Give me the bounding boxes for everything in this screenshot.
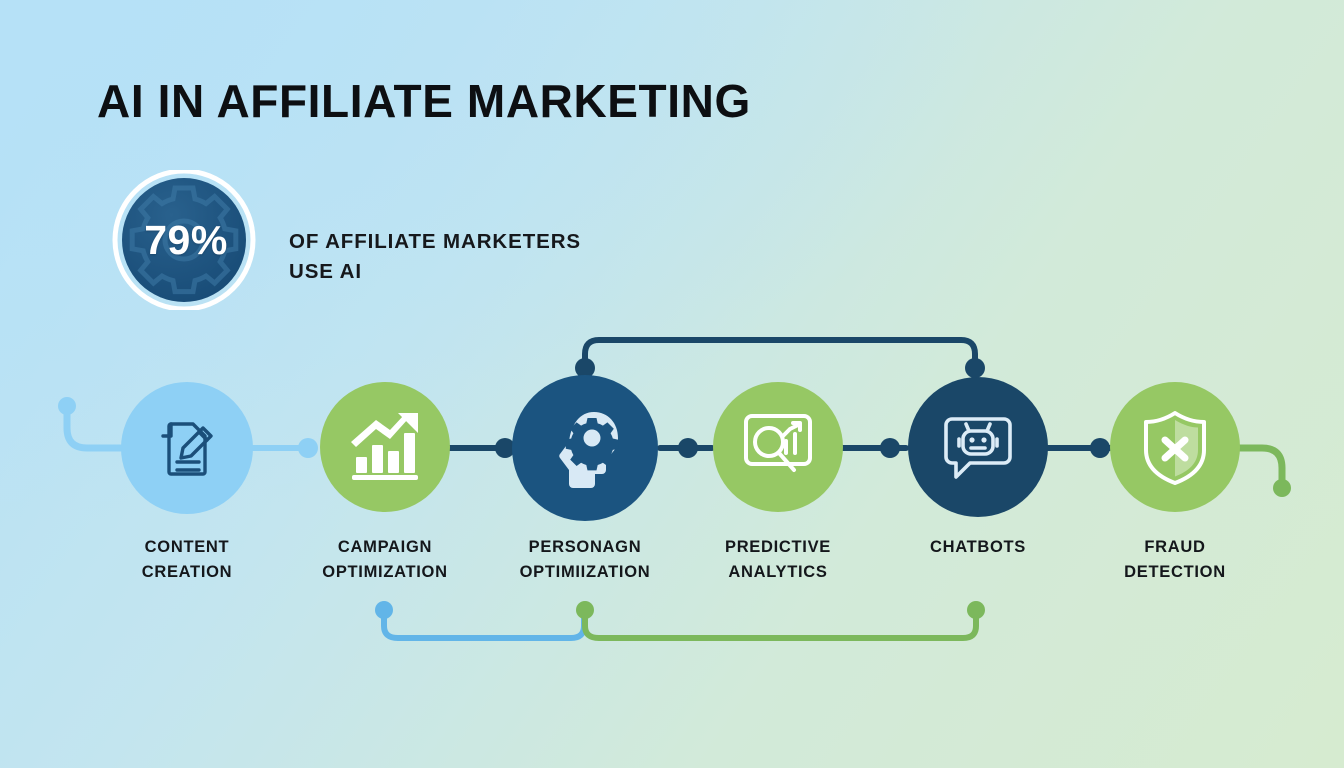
connector-2-3 <box>444 438 515 458</box>
shield-x-icon <box>1138 407 1212 487</box>
flow-label-predictive-analytics: PREDICTIVE ANALYTICS <box>663 535 893 585</box>
flow-node-predictive-analytics[interactable] <box>713 382 843 512</box>
document-pencil-icon <box>149 410 225 486</box>
flow-node-personalization[interactable] <box>512 375 658 521</box>
chatbot-icon <box>938 407 1018 487</box>
flow-node-fraud-detection[interactable] <box>1110 382 1240 512</box>
bar-chart-arrow-up-icon <box>346 411 424 483</box>
head-gear-icon <box>544 406 626 490</box>
connector-3-4 <box>660 438 712 458</box>
flow-label-content-creation: CONTENT CREATION <box>72 535 302 585</box>
flow-label-fraud-detection: FRAUD DETECTION <box>1060 535 1290 585</box>
infographic-canvas: AI IN AFFILIATE MARKETING <box>0 0 1344 768</box>
connector-5-6 <box>1040 438 1110 458</box>
bottom-bracket-green-connector <box>576 601 985 638</box>
flow-node-campaign-optimization[interactable] <box>320 382 450 512</box>
flow-label-chatbots: CHATBOTS <box>863 535 1093 560</box>
flow-node-content-creation[interactable] <box>121 382 253 514</box>
top-bracket-connector <box>575 340 985 378</box>
connector-1-2 <box>247 438 318 458</box>
flow-label-campaign-optimization: CAMPAIGN OPTIMIZATION <box>270 535 500 585</box>
bottom-bracket-blue-connector <box>375 601 584 638</box>
connector-4-5 <box>836 438 906 458</box>
magnifier-chart-icon <box>738 408 818 486</box>
flow-node-chatbots[interactable] <box>908 377 1048 517</box>
